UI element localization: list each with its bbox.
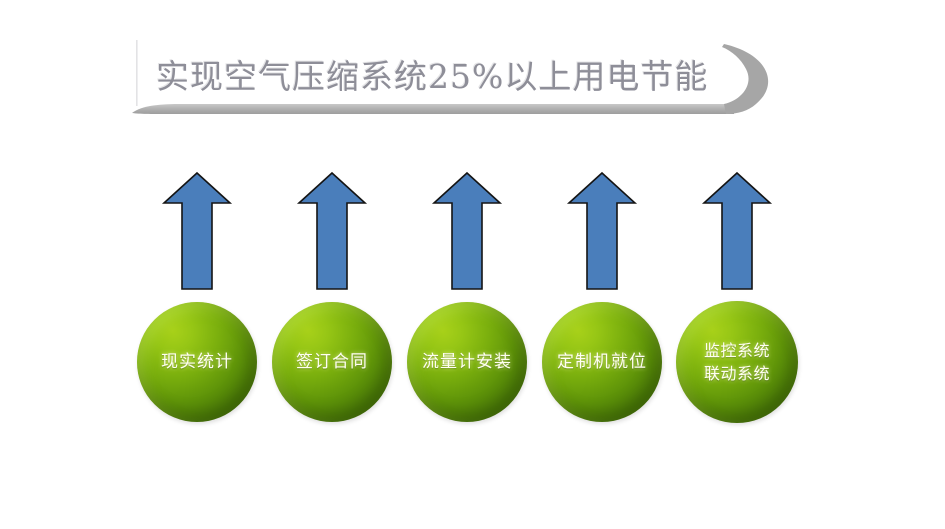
step-circle-1[interactable]: 现实统计: [137, 302, 257, 422]
step-label-5: 监控系统 联动系统: [704, 339, 770, 385]
arrow-up-3: [431, 170, 503, 292]
step-circle-3[interactable]: 流量计安装: [407, 302, 527, 422]
title-banner: 实现空气压缩系统25%以上用电节能: [128, 36, 788, 128]
arrow-shape: [164, 173, 230, 289]
step-circle-5[interactable]: 监控系统 联动系统: [676, 301, 798, 423]
step-label-1: 现实统计: [161, 350, 233, 374]
arrow-up-5: [701, 170, 773, 292]
step-label-2: 签订合同: [296, 350, 368, 374]
slide-canvas: 实现空气压缩系统25%以上用电节能 现实统计 签订合同 流量计安装: [0, 0, 945, 529]
step-circle-4[interactable]: 定制机就位: [542, 302, 662, 422]
arrow-shape: [299, 173, 365, 289]
arrow-shape: [569, 173, 635, 289]
arrow-up-2: [296, 170, 368, 292]
arrow-up-1: [161, 170, 233, 292]
step-label-4: 定制机就位: [557, 350, 647, 374]
arrow-shape: [434, 173, 500, 289]
arrow-up-4: [566, 170, 638, 292]
page-title: 实现空气压缩系统25%以上用电节能: [156, 52, 756, 102]
title-left-stroke: [136, 40, 138, 106]
step-circle-2[interactable]: 签订合同: [272, 302, 392, 422]
title-underline-bar: [132, 104, 734, 114]
step-label-3: 流量计安装: [422, 350, 512, 374]
arrow-shape: [704, 173, 770, 289]
